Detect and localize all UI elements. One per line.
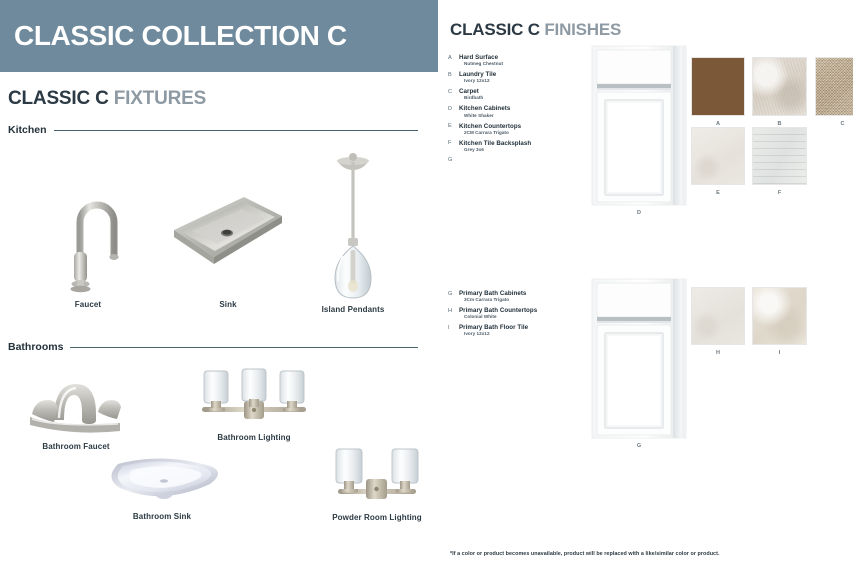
bath-floor-tile-swatch: I xyxy=(752,287,807,345)
fixture-kitchen-sink: Sink xyxy=(170,185,286,310)
swatch-caption: H xyxy=(716,350,720,356)
legend-key: H xyxy=(448,307,459,320)
legend-sub: Nutmeg Chestnut xyxy=(459,61,568,67)
fixtures-panel: CLASSIC COLLECTION C CLASSIC C FIXTURES … xyxy=(0,0,438,569)
primary-bath-cabinet-door: G xyxy=(590,277,688,440)
fixture-label: Powder Room Lighting xyxy=(332,513,422,522)
legend-key: D xyxy=(448,105,459,118)
legend-name: Primary Bath Cabinets xyxy=(459,290,568,297)
legend-item: A Hard Surface Nutmeg Chestnut xyxy=(448,54,568,67)
fixture-label: Faucet xyxy=(75,300,101,309)
footnote-disclaimer: *If a color or product becomes unavailab… xyxy=(450,551,720,557)
legend-item: G xyxy=(448,157,568,164)
kitchen-sink-icon xyxy=(170,185,286,295)
header-band: CLASSIC COLLECTION C xyxy=(0,0,438,72)
swatch-texture xyxy=(691,287,745,345)
finishes-title-light: FINISHES xyxy=(544,20,621,39)
legend-key: G xyxy=(448,157,459,164)
fixture-label: Sink xyxy=(219,300,236,309)
divider-rule xyxy=(70,347,418,348)
legend-sub: Colonial White xyxy=(459,314,568,320)
swatch-texture xyxy=(752,287,807,345)
legend-key: I xyxy=(448,324,459,337)
legend-sub: Ivory 12x12 xyxy=(459,331,568,337)
legend-name: Hard Surface xyxy=(459,54,568,61)
legend-sub: Birdbath xyxy=(459,95,568,101)
fixture-label: Island Pendants xyxy=(322,305,385,314)
door-caption: G xyxy=(637,443,641,449)
legend-name: Kitchen Countertops xyxy=(459,123,568,130)
kitchen-cabinet-door: D xyxy=(590,44,688,207)
fixtures-title-light: FIXTURES xyxy=(114,88,206,109)
hard-surface-swatch: A xyxy=(691,57,745,116)
swatch-texture xyxy=(752,57,807,116)
legend-key: E xyxy=(448,123,459,136)
fixtures-section-title: CLASSIC C FIXTURES xyxy=(8,88,206,110)
bathroom-faucet-icon xyxy=(26,362,126,438)
swatch-caption: E xyxy=(716,190,720,196)
swatch-texture xyxy=(691,57,745,116)
cabinet-door-icon xyxy=(590,44,688,207)
swatch-caption: C xyxy=(841,121,845,127)
finishes-section-title: CLASSIC C FINISHES xyxy=(450,20,621,40)
fixture-island-pendants: Island Pendants xyxy=(305,150,401,320)
legend-key: G xyxy=(448,290,459,303)
group-header-bathrooms: Bathrooms xyxy=(8,341,418,353)
collection-spec-sheet: CLASSIC COLLECTION C CLASSIC C FIXTURES … xyxy=(0,0,853,569)
divider-rule xyxy=(54,130,418,131)
legend-item: F Kitchen Tile Backsplash Grey 3x6 xyxy=(448,140,568,153)
legend-item: E Kitchen Countertops 2CM Carrara Trigat… xyxy=(448,123,568,136)
kitchen-faucet-icon xyxy=(48,160,128,300)
finishes-title-bold: CLASSIC C xyxy=(450,20,540,39)
undermount-sink-icon xyxy=(92,450,232,514)
pendant-light-icon xyxy=(305,150,401,302)
legend-sub: 3Cm Carrara Trigato xyxy=(459,297,568,303)
swatch-texture xyxy=(752,127,807,185)
finishes-legend-top: A Hard Surface Nutmeg Chestnut B Laundry… xyxy=(448,54,568,168)
finishes-legend-bottom: G Primary Bath Cabinets 3Cm Carrara Trig… xyxy=(448,290,568,341)
legend-item: I Primary Bath Floor Tile Ivory 12x12 xyxy=(448,324,568,337)
swatch-caption: I xyxy=(779,350,781,356)
legend-key: C xyxy=(448,88,459,101)
door-caption: D xyxy=(637,210,641,216)
legend-item: C Carpet Birdbath xyxy=(448,88,568,101)
legend-sub: 2CM Carrara Trigato xyxy=(459,130,568,136)
legend-name: Kitchen Tile Backsplash xyxy=(459,140,568,147)
laundry-tile-swatch: B xyxy=(752,57,807,116)
fixture-bathroom-sink: Bathroom Sink xyxy=(92,450,232,530)
legend-sub: Ivory 12x12 xyxy=(459,78,568,84)
kitchen-countertop-swatch: E xyxy=(691,127,745,185)
fixture-bathroom-lighting: Bathroom Lighting xyxy=(196,365,312,447)
legend-key: B xyxy=(448,71,459,84)
cabinet-door-icon xyxy=(590,277,688,440)
fixture-label: Bathroom Sink xyxy=(133,512,191,521)
vanity-light-2-icon xyxy=(322,443,432,513)
legend-item: D Kitchen Cabinets White Shaker xyxy=(448,105,568,118)
legend-name: Primary Bath Floor Tile xyxy=(459,324,568,331)
vanity-light-3-icon xyxy=(196,365,312,431)
finishes-panel: CLASSIC C FINISHES A Hard Surface Nutmeg… xyxy=(438,0,853,569)
fixture-bathroom-faucet: Bathroom Faucet xyxy=(26,362,126,454)
fixture-label: Bathroom Lighting xyxy=(217,433,290,442)
legend-sub: White Shaker xyxy=(459,113,568,119)
swatch-texture xyxy=(691,127,745,185)
swatch-caption: F xyxy=(778,190,781,196)
fixture-powder-room-lighting: Powder Room Lighting xyxy=(322,443,432,529)
fixtures-title-bold: CLASSIC C xyxy=(8,88,109,109)
group-label-bathrooms: Bathrooms xyxy=(8,341,70,353)
group-header-kitchen: Kitchen xyxy=(8,124,418,136)
carpet-swatch: C xyxy=(815,57,853,116)
page-title: CLASSIC COLLECTION C xyxy=(0,20,347,52)
legend-item: H Primary Bath Countertops Colonial Whit… xyxy=(448,307,568,320)
legend-name: Carpet xyxy=(459,88,568,95)
bath-countertop-swatch: H xyxy=(691,287,745,345)
kitchen-backsplash-swatch: F xyxy=(752,127,807,185)
legend-key: A xyxy=(448,54,459,67)
legend-sub: Grey 3x6 xyxy=(459,147,568,153)
legend-item: G Primary Bath Cabinets 3Cm Carrara Trig… xyxy=(448,290,568,303)
legend-name: Laundry Tile xyxy=(459,71,568,78)
legend-name: Primary Bath Countertops xyxy=(459,307,568,314)
swatch-texture xyxy=(815,57,853,116)
group-label-kitchen: Kitchen xyxy=(8,124,54,136)
legend-name: Kitchen Cabinets xyxy=(459,105,568,112)
legend-key: F xyxy=(448,140,459,153)
legend-item: B Laundry Tile Ivory 12x12 xyxy=(448,71,568,84)
fixture-kitchen-faucet: Faucet xyxy=(48,160,128,310)
